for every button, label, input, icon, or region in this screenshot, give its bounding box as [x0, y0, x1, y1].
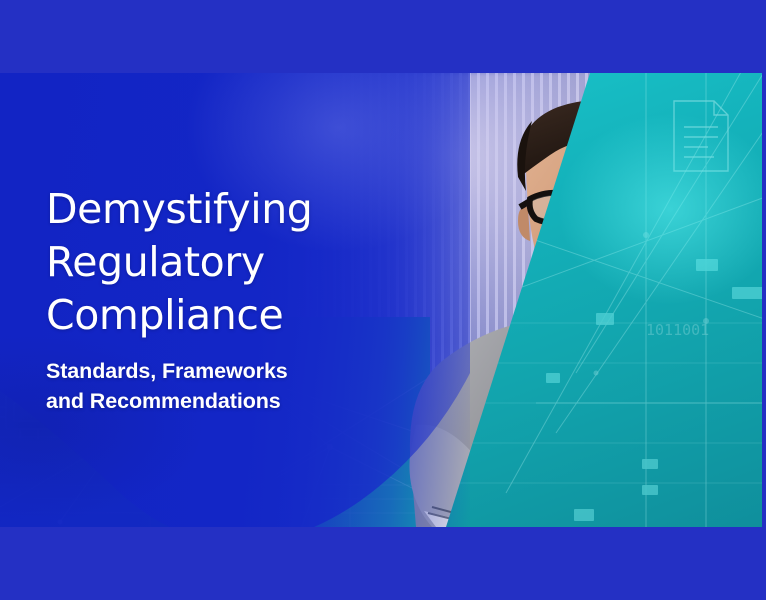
frame-right-edge — [762, 73, 766, 527]
page-title: Demystifying Regulatory Compliance — [46, 183, 386, 342]
copy-block: Demystifying Regulatory Compliance Stand… — [46, 183, 386, 417]
page-subtitle: Standards, Frameworks and Recommendation… — [46, 356, 386, 417]
banner-image-area: 1011001 Demystifying Regulatory Complian… — [0, 73, 766, 527]
subheadline-line-2: and Recommendations — [46, 386, 386, 417]
banner-graphic: 1011001 Demystifying Regulatory Complian… — [0, 0, 766, 600]
subheadline-line-1: Standards, Frameworks — [46, 356, 386, 387]
headline-line-2: Regulatory — [46, 236, 386, 289]
headline-line-1: Demystifying — [46, 183, 386, 236]
headline-line-3: Compliance — [46, 289, 386, 342]
